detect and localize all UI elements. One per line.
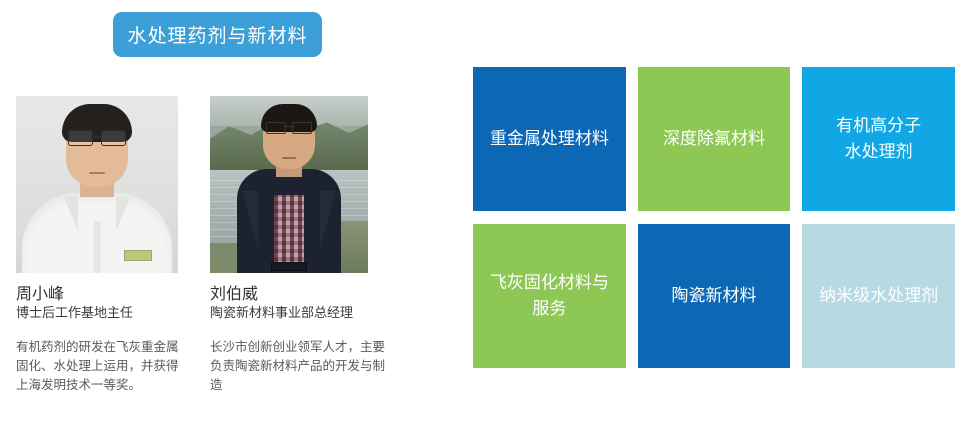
tile-organic-polymer-water-treatment-agent[interactable]: 有机高分子 水处理剂	[802, 67, 955, 211]
glasses-lens-left	[68, 130, 93, 146]
product-tile-grid: 重金属处理材料 深度除氟材料 有机高分子 水处理剂 飞灰固化材料与 服务 陶瓷新…	[473, 67, 955, 368]
lapel-right-shape	[320, 191, 336, 247]
shirt-pocket-badge-shape	[124, 250, 152, 261]
glasses-lens-right	[292, 122, 312, 134]
glasses-icon	[68, 130, 126, 145]
person-description: 有机药剂的研发在飞灰重金属固化、水处理上运用，并获得上海发明技术一等奖。	[16, 337, 184, 394]
tile-label: 纳米级水处理剂	[819, 283, 938, 309]
belt-shape	[271, 262, 307, 271]
tile-fly-ash-solidification-material-and-service[interactable]: 飞灰固化材料与 服务	[473, 224, 626, 368]
person-name: 刘伯威	[210, 284, 402, 304]
person-photo	[210, 96, 368, 273]
tile-label: 飞灰固化材料与 服务	[490, 270, 609, 322]
person-role: 博士后工作基地主任	[16, 305, 192, 322]
person-text-block: 周小峰 博士后工作基地主任 有机药剂的研发在飞灰重金属固化、水处理上运用，并获得…	[16, 284, 192, 394]
tile-label: 陶瓷新材料	[671, 283, 756, 309]
section-title-label: 水处理药剂与新材料	[127, 21, 307, 48]
tile-ceramic-new-material[interactable]: 陶瓷新材料	[638, 224, 791, 368]
person-card: 刘伯威 陶瓷新材料事业部总经理 长沙市创新创业领军人才，主要负责陶瓷新材料产品的…	[210, 96, 402, 394]
slide-root: { "title": { "badge_label": "水处理药剂与新材料",…	[0, 0, 964, 436]
tile-label: 深度除氟材料	[663, 126, 765, 152]
person-role: 陶瓷新材料事业部总经理	[210, 305, 402, 322]
glasses-lens-right	[101, 130, 126, 146]
glasses-lens-left	[266, 122, 286, 134]
section-title-badge: 水处理药剂与新材料	[113, 12, 322, 57]
lapel-left-shape	[242, 191, 258, 247]
mouth-shape	[282, 157, 296, 159]
person-photo	[16, 96, 178, 273]
tile-label: 有机高分子 水处理剂	[836, 113, 921, 165]
tile-label: 重金属处理材料	[490, 126, 609, 152]
person-text-block: 刘伯威 陶瓷新材料事业部总经理 长沙市创新创业领军人才，主要负责陶瓷新材料产品的…	[210, 284, 402, 394]
shirt-placket-shape	[94, 221, 101, 273]
person-card: 周小峰 博士后工作基地主任 有机药剂的研发在飞灰重金属固化、水处理上运用，并获得…	[16, 96, 192, 394]
person-description: 长沙市创新创业领军人才，主要负责陶瓷新材料产品的开发与制造	[210, 337, 395, 394]
plaid-shirt-shape	[274, 195, 304, 269]
mouth-shape	[89, 172, 105, 174]
tile-heavy-metal-treatment-material[interactable]: 重金属处理材料	[473, 67, 626, 211]
tile-deep-defluorination-material[interactable]: 深度除氟材料	[638, 67, 791, 211]
collar-right-shape	[116, 197, 130, 231]
people-panel: 周小峰 博士后工作基地主任 有机药剂的研发在飞灰重金属固化、水处理上运用，并获得…	[0, 96, 440, 426]
tile-nano-water-treatment-agent[interactable]: 纳米级水处理剂	[802, 224, 955, 368]
person-name: 周小峰	[16, 284, 192, 304]
collar-left-shape	[64, 197, 78, 231]
glasses-icon	[266, 122, 312, 133]
